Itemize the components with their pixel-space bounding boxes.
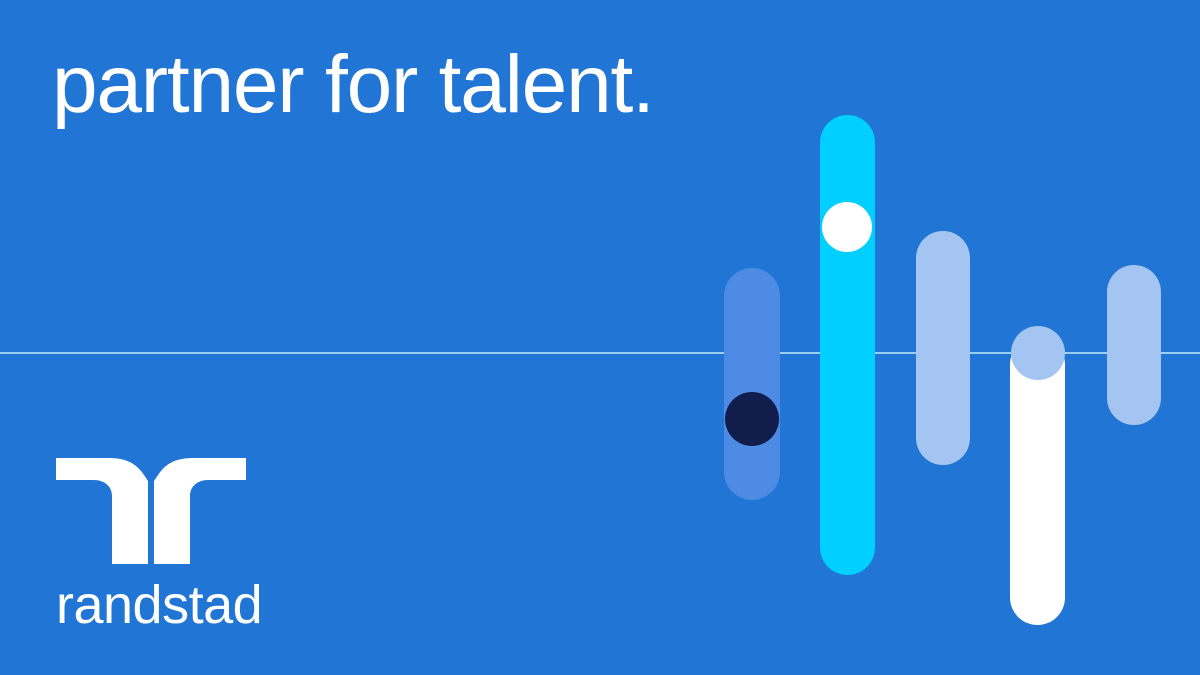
brand-logo-lockup[interactable]: randstad — [56, 458, 256, 632]
page-title: partner for talent. — [52, 42, 654, 128]
chart-bar — [1010, 337, 1065, 625]
randstad-y-mark-icon — [56, 458, 246, 564]
chart-bar — [820, 115, 875, 575]
chart-marker-dot — [725, 392, 779, 446]
chart-bar — [1107, 265, 1161, 425]
brand-banner: partner for talent. randstad — [0, 0, 1200, 675]
horizon-rule — [0, 352, 1200, 354]
chart-bar — [724, 268, 780, 500]
chart-marker-dot — [822, 202, 872, 252]
brand-wordmark: randstad — [56, 578, 256, 632]
chart-bar — [916, 231, 970, 465]
